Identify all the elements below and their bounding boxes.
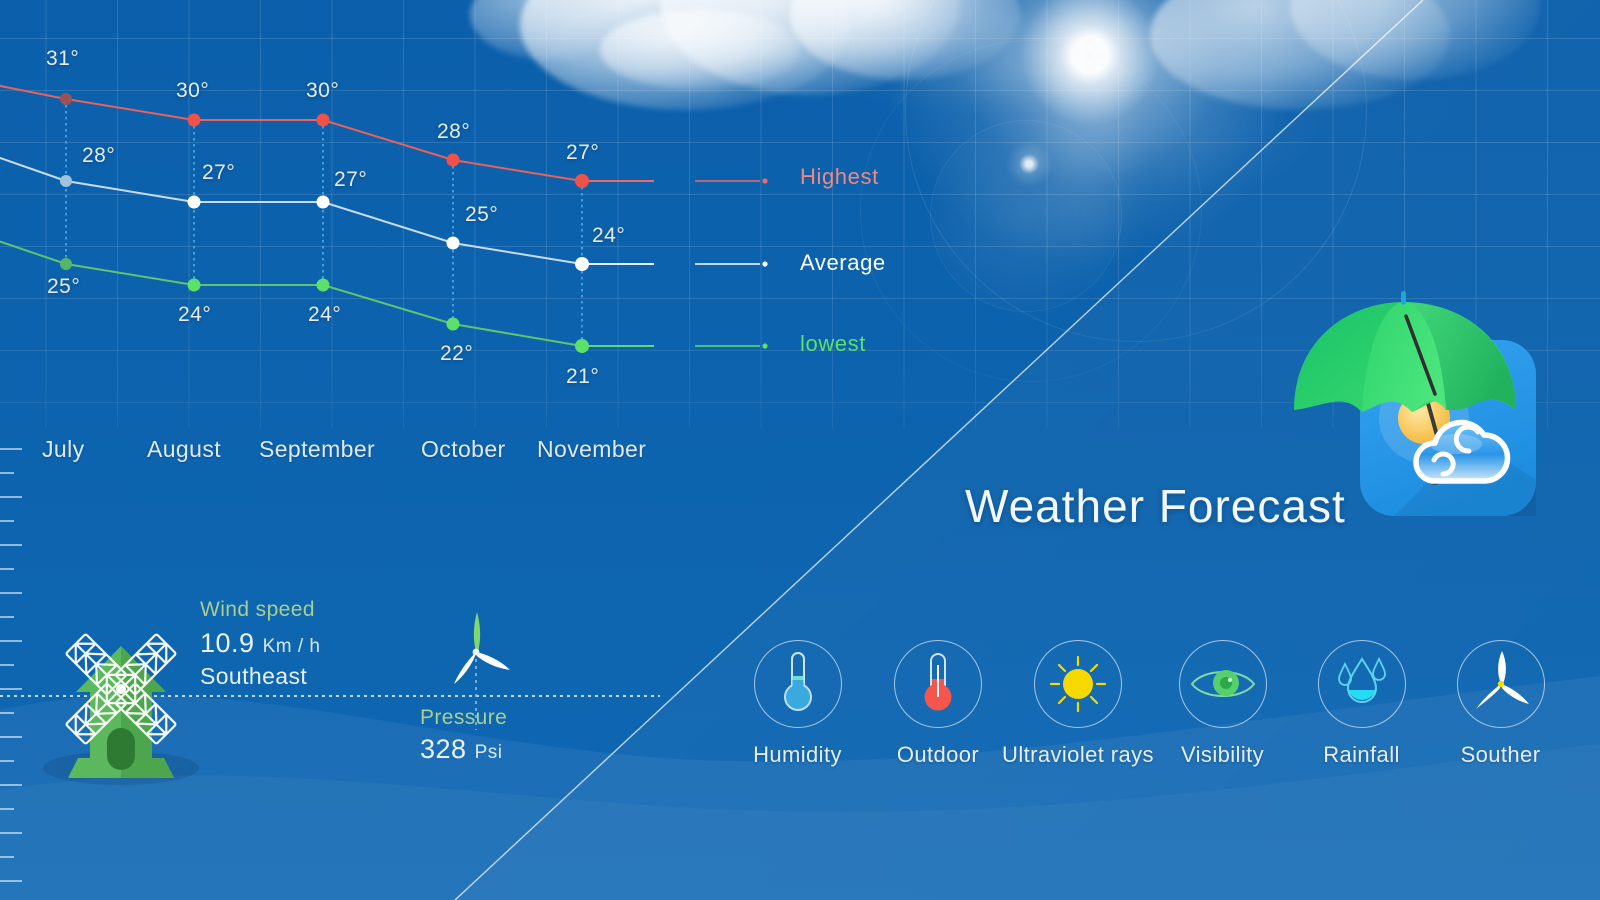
series-lowest: [0, 228, 654, 353]
weather-metrics-row: Humidity Outdoor: [745, 640, 1595, 780]
metric-visibility[interactable]: Visibility: [1170, 640, 1275, 768]
eye-icon: [1180, 641, 1266, 727]
month-axis: July August September October November: [0, 436, 740, 476]
metric-label: Souther: [1448, 742, 1553, 768]
data-label-highest-november: 27°: [566, 141, 599, 165]
data-label-lowest-august: 24°: [178, 303, 211, 327]
month-label-september: September: [259, 436, 375, 463]
pressure-block: Pressure 328Psi: [420, 706, 640, 765]
outdoor-thermometer-icon: [895, 641, 981, 727]
data-label-highest-october: 28°: [437, 120, 470, 144]
wind-speed-number: 10.9: [200, 628, 255, 658]
umbrella-icon: [1282, 288, 1532, 428]
pressure-title: Pressure: [420, 706, 640, 730]
metric-ring: [1034, 640, 1122, 728]
wind-speed-unit: Km / h: [263, 636, 321, 657]
weather-forecast-infographic: .ln{fill:none;stroke-width:2;} .tail{str…: [0, 0, 1600, 900]
metric-ring: [1318, 640, 1406, 728]
pressure-value: 328Psi: [420, 734, 640, 765]
metric-humidity[interactable]: Humidity: [745, 640, 850, 768]
sun-icon: [1035, 641, 1121, 727]
metric-outdoor[interactable]: Outdoor: [890, 640, 986, 768]
metric-label: Outdoor: [890, 742, 986, 768]
humidity-thermometer-icon: [755, 641, 841, 727]
data-label-lowest-november: 21°: [566, 365, 599, 389]
metric-ring: [1457, 640, 1545, 728]
data-label-average-july: 28°: [82, 144, 115, 168]
metric-label: Visibility: [1170, 742, 1275, 768]
metric-ultraviolet-rays[interactable]: Ultraviolet rays: [993, 640, 1163, 768]
data-label-highest-august: 30°: [176, 79, 209, 103]
metric-souther[interactable]: Souther: [1448, 640, 1553, 768]
month-label-november: November: [537, 436, 646, 463]
data-label-highest-july: 31°: [46, 47, 79, 71]
data-label-average-august: 27°: [202, 161, 235, 185]
metric-ring: [1179, 640, 1267, 728]
data-label-average-september: 27°: [334, 168, 367, 192]
data-label-lowest-october: 22°: [440, 342, 473, 366]
data-label-average-october: 25°: [465, 203, 498, 227]
metric-rainfall[interactable]: Rainfall: [1309, 640, 1414, 768]
data-label-highest-september: 30°: [306, 79, 339, 103]
temperature-line-chart: .ln{fill:none;stroke-width:2;} .tail{str…: [0, 0, 960, 440]
data-label-lowest-september: 24°: [308, 303, 341, 327]
legend-label-highest[interactable]: Highest: [800, 164, 879, 190]
month-label-july: July: [42, 436, 85, 463]
legend-label-lowest[interactable]: lowest: [800, 331, 866, 357]
windmill-icon: [18, 588, 228, 798]
pressure-number: 328: [420, 734, 467, 764]
metric-label: Ultraviolet rays: [993, 742, 1163, 768]
pressure-unit: Psi: [475, 742, 503, 763]
data-label-lowest-july: 25°: [47, 275, 80, 299]
metric-ring: [754, 640, 842, 728]
raindrop-icon: [1319, 641, 1405, 727]
metric-label: Rainfall: [1309, 742, 1414, 768]
data-label-average-november: 24°: [592, 224, 625, 248]
metric-ring: [894, 640, 982, 728]
legend-connectors: [695, 178, 768, 348]
legend-label-average[interactable]: Average: [800, 250, 886, 276]
month-label-august: August: [147, 436, 221, 463]
month-label-october: October: [421, 436, 506, 463]
turbine-icon: [1458, 641, 1544, 727]
page-title: Weather Forecast: [965, 479, 1346, 533]
metric-label: Humidity: [745, 742, 850, 768]
